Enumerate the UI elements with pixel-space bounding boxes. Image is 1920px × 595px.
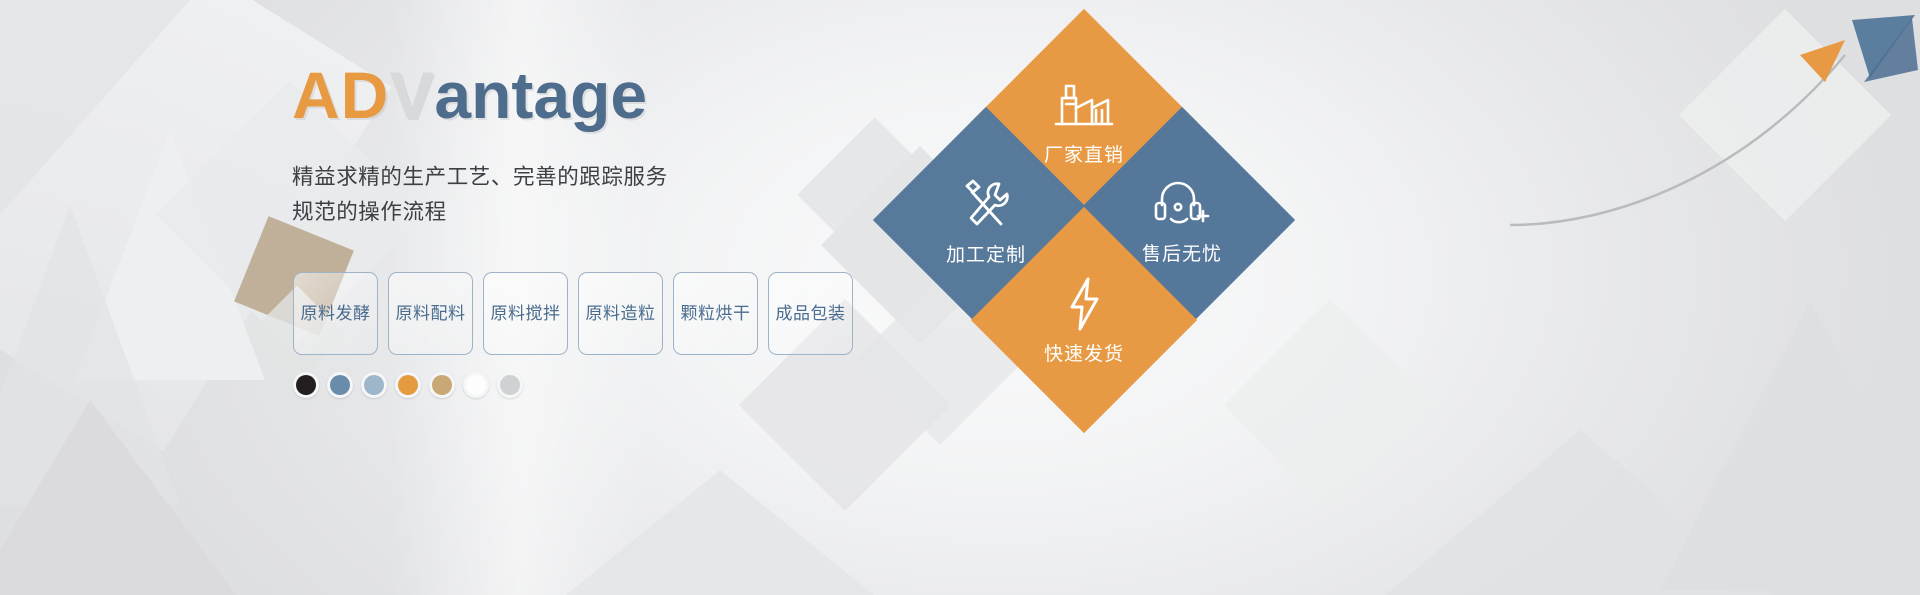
process-step-2[interactable]: 原料配料: [388, 272, 473, 355]
color-dot-7[interactable]: [497, 372, 523, 398]
dot-tan-swatch: [432, 375, 452, 395]
process-step-label: 原料搅拌: [491, 303, 561, 324]
process-step-label: 颗粒烘干: [681, 303, 751, 324]
feature-label: 快速发货: [1044, 339, 1124, 366]
headset-icon: [1151, 175, 1213, 233]
process-step-label: 原料造粒: [586, 303, 656, 324]
process-step-4[interactable]: 原料造粒: [578, 272, 663, 355]
factory-icon: [1052, 78, 1116, 134]
bg-triangle-left-large: [75, 130, 265, 380]
color-dot-4[interactable]: [395, 372, 421, 398]
color-dots-row: [293, 372, 523, 398]
dot-orange-swatch: [398, 375, 418, 395]
dot-steel-blue-swatch: [330, 375, 350, 395]
bg-triangle-bottom-center: [560, 470, 880, 595]
dot-white-swatch: [466, 375, 486, 395]
process-step-label: 原料发酵: [301, 303, 371, 324]
dot-grey-swatch: [500, 375, 520, 395]
process-steps-row: 原料发酵 原料配料 原料搅拌 原料造粒 颗粒烘干 成品包装: [293, 272, 853, 355]
title-part-v: V: [389, 62, 434, 128]
color-dot-6[interactable]: [463, 372, 489, 398]
decorative-diamond-4: [1224, 299, 1436, 511]
color-dot-5[interactable]: [429, 372, 455, 398]
color-dot-3[interactable]: [361, 372, 387, 398]
feature-diamonds: 厂家直销 售后无忧: [870, 0, 1920, 595]
tools-icon: [955, 174, 1017, 234]
color-dot-2[interactable]: [327, 372, 353, 398]
title-part-rest: antage: [434, 62, 647, 128]
bg-triangle-bottomleft: [0, 400, 240, 595]
headline-block: ADVantage 精益求精的生产工艺、完善的跟踪服务 规范的操作流程: [292, 62, 892, 230]
process-step-3[interactable]: 原料搅拌: [483, 272, 568, 355]
process-step-6[interactable]: 成品包装: [768, 272, 853, 355]
subtitle-line-2: 规范的操作流程: [292, 195, 892, 230]
subtitle-line-1: 精益求精的生产工艺、完善的跟踪服务: [292, 160, 892, 195]
promo-banner: ADVantage 精益求精的生产工艺、完善的跟踪服务 规范的操作流程 原料发酵…: [0, 0, 1920, 595]
process-step-label: 原料配料: [396, 303, 466, 324]
process-step-label: 成品包装: [776, 303, 846, 324]
subtitle: 精益求精的生产工艺、完善的跟踪服务 规范的操作流程: [292, 160, 892, 230]
lightning-icon: [1063, 275, 1105, 333]
color-dot-1[interactable]: [293, 372, 319, 398]
bg-triangle-topleft: [0, 0, 190, 215]
bg-triangle-left-mid: [0, 205, 180, 505]
dot-light-blue-swatch: [364, 375, 384, 395]
feature-tile-shipping[interactable]: 快速发货: [971, 207, 1197, 433]
page-title: ADVantage: [292, 62, 892, 128]
dot-black-swatch: [296, 375, 316, 395]
process-step-5[interactable]: 颗粒烘干: [673, 272, 758, 355]
title-part-ad: AD: [292, 62, 389, 128]
process-step-1[interactable]: 原料发酵: [293, 272, 378, 355]
